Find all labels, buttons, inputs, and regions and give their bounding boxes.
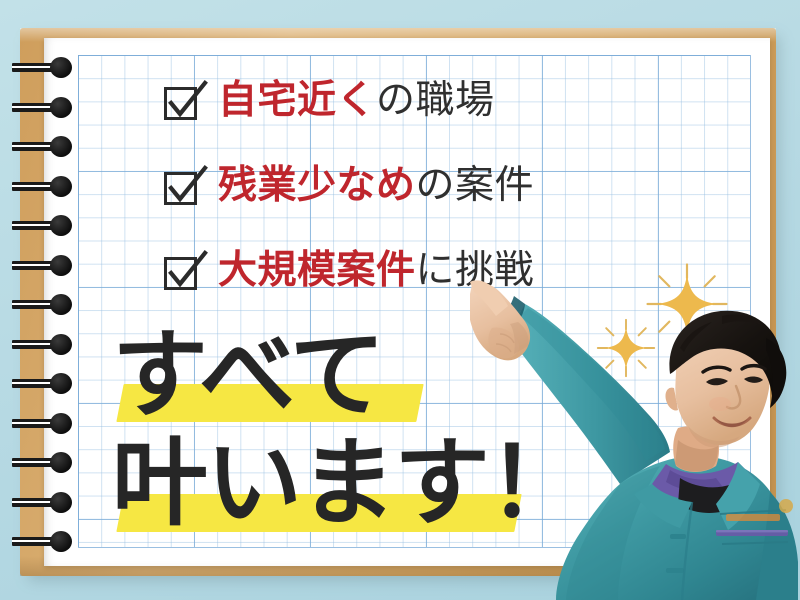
list-item-text: 残業少なめの案件: [218, 166, 534, 205]
list-item: 残業少なめの案件: [160, 143, 680, 228]
checkbox-checked-icon[interactable]: [160, 164, 204, 208]
list-item-highlight: 残業少なめ: [218, 163, 416, 208]
list-item-highlight: 大規模案件: [218, 248, 416, 293]
headline-line-1: すべて: [112, 322, 383, 428]
list-item-plain: の案件: [416, 163, 535, 208]
spiral-binding: [0, 0, 130, 600]
checklist: 自宅近くの職場 残業少なめの案件 大規模案件に挑戦: [160, 58, 680, 313]
list-item-plain: の職場: [376, 78, 495, 123]
worker-pointing-up-photo: [470, 278, 800, 600]
list-item: 自宅近くの職場: [160, 58, 680, 143]
checkbox-checked-icon[interactable]: [160, 249, 204, 293]
checkbox-checked-icon[interactable]: [160, 79, 204, 123]
banner-root: 自宅近くの職場 残業少なめの案件 大規模案件に挑戦: [0, 0, 800, 600]
list-item-text: 自宅近くの職場: [218, 81, 495, 120]
list-item-highlight: 自宅近く: [218, 78, 376, 123]
